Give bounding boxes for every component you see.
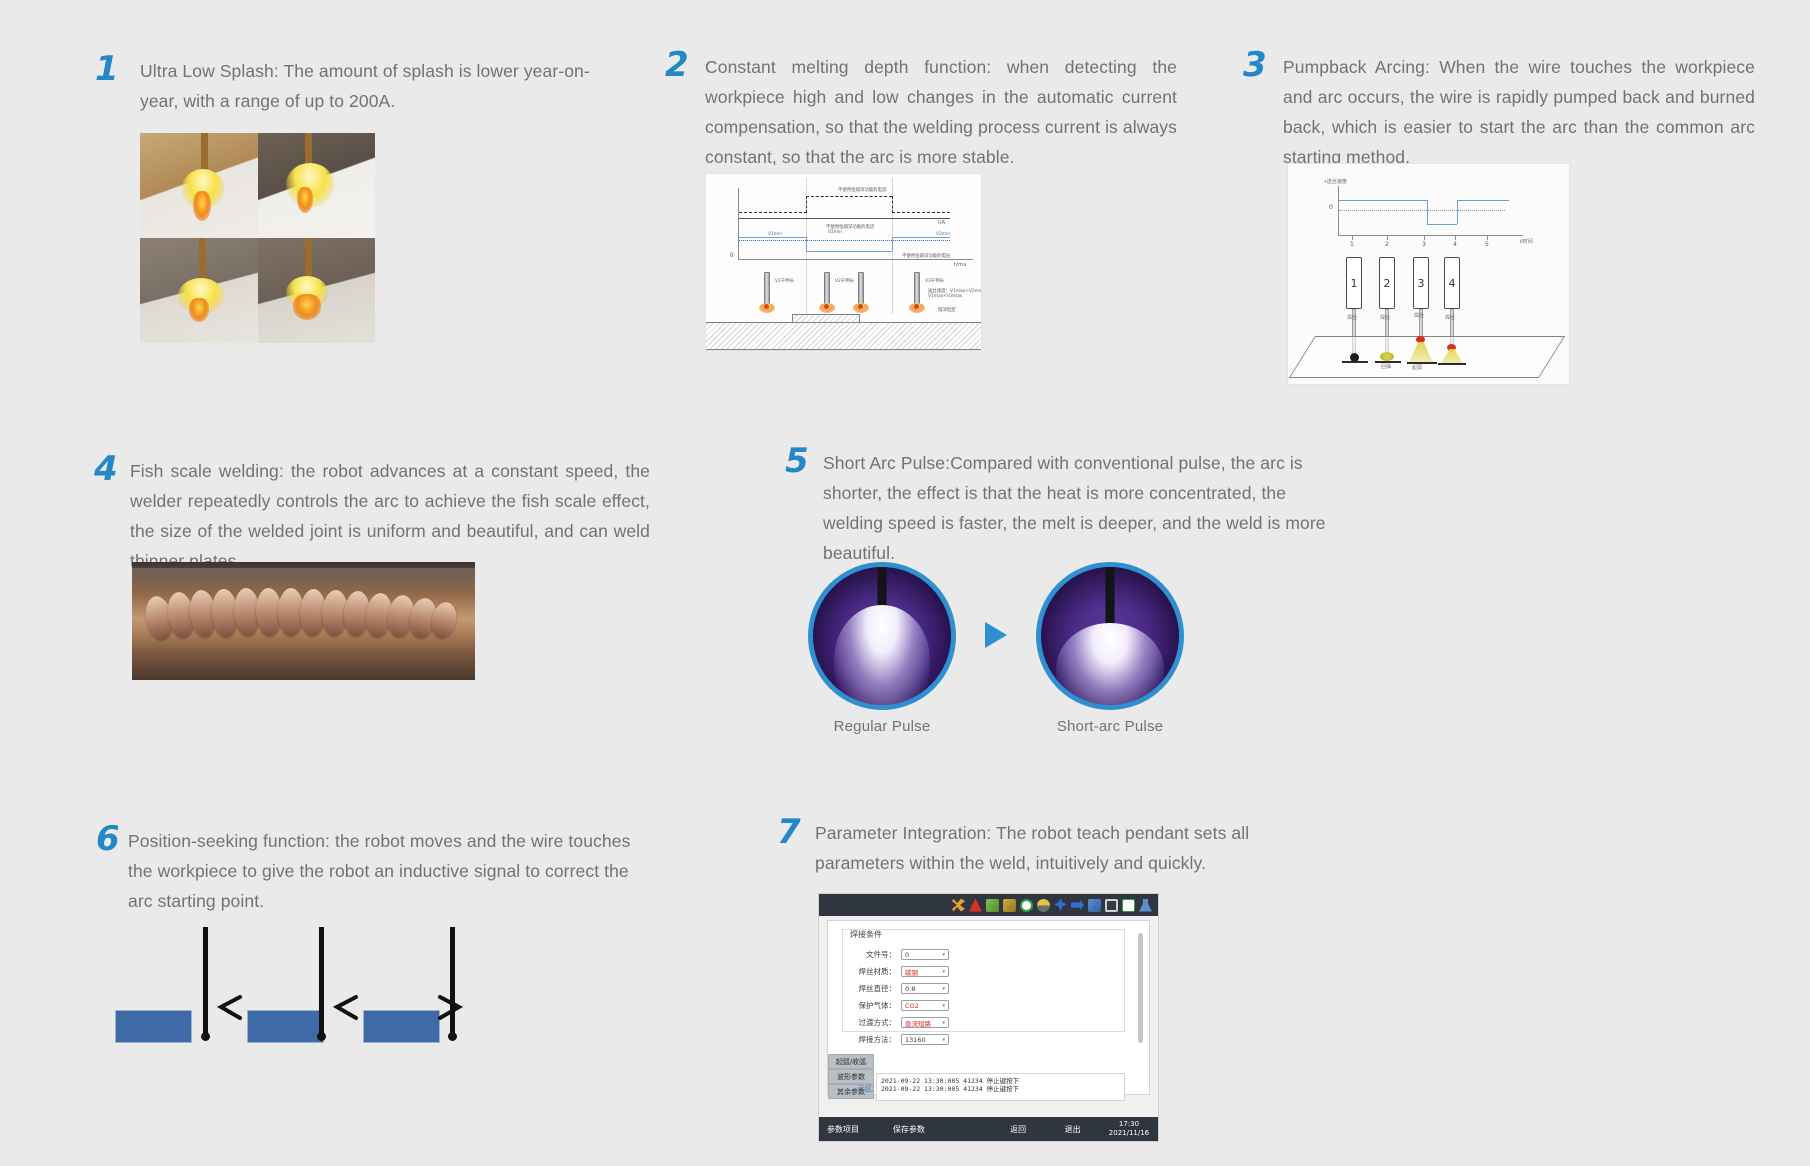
torch-4: [914, 272, 920, 306]
wire-label-3: 焊丝: [1414, 312, 1424, 319]
current-dashed-seg1: [739, 212, 807, 213]
current-dashed-seg3: [892, 212, 950, 213]
chevron-down-icon: ▾: [942, 969, 945, 975]
contact-mark-4: [1438, 363, 1466, 365]
log-row: 2021-09-22 13:30:005 41234 停止键按下: [881, 1077, 1120, 1085]
pendant-toolbar: [819, 894, 1158, 916]
bottom-button-params[interactable]: 参数项目: [819, 1124, 882, 1135]
x-axis-label: t/ms: [954, 262, 966, 268]
stage-box-4: 4: [1444, 257, 1460, 309]
splash-photo-2: [258, 133, 376, 238]
regular-pulse-caption: Regular Pulse: [808, 718, 956, 735]
arc-cone: [293, 294, 321, 320]
feature-3-number: 3: [1243, 48, 1266, 82]
chart-y-axis: [1338, 186, 1339, 236]
voltage-step: [806, 237, 807, 251]
tick-label-2: 2: [1385, 241, 1389, 248]
torch-1: [764, 272, 770, 306]
warning-icon[interactable]: [969, 899, 982, 912]
torch-tip-4: [914, 304, 919, 309]
workpiece-block-1: [115, 1010, 192, 1043]
pumpback-arcing-diagram: +送丝速度 t/时间 0 1 2 3 4 5 1 2 3 4: [1287, 163, 1570, 385]
tick-2: [1387, 235, 1388, 240]
feature-1-number: 1: [95, 52, 118, 86]
regular-pulse-image: [808, 562, 956, 710]
contact-mark-1: [1342, 361, 1368, 363]
feature-6-number: 6: [96, 822, 119, 856]
tick-label-4: 4: [1453, 241, 1457, 248]
field-row-wire-diameter[interactable]: 焊丝直径： 0.8 ▾: [852, 983, 949, 994]
wire-label-4: 焊丝: [1445, 314, 1455, 321]
feature-2-text: Constant melting depth function: when de…: [705, 52, 1177, 172]
field-select[interactable]: 13160 ▾: [901, 1034, 949, 1045]
voltage-step: [892, 237, 893, 251]
feature-7-number: 7: [777, 815, 800, 849]
tab-arc-start-end[interactable]: 起弧/收弧: [828, 1054, 874, 1069]
clock-date: 2021/11/16: [1100, 1129, 1158, 1138]
voltage-seg1: [739, 237, 807, 238]
current-dashed-step: [806, 196, 807, 213]
legend-line-2: V1max<V3max: [928, 294, 962, 299]
voltage-seg2: [806, 251, 892, 252]
left-arrow-icon: [330, 992, 360, 1022]
short-arc-pulse-image: [1036, 562, 1184, 710]
y-axis: [738, 188, 739, 260]
workpiece-block-2: [247, 1010, 324, 1043]
field-label: 过渡方式：: [852, 1017, 896, 1028]
arc-plume: [1056, 623, 1164, 710]
field-select[interactable]: 直流短路 ▾: [901, 1017, 949, 1028]
wire-label-2: 焊丝: [1380, 314, 1390, 321]
field-select[interactable]: CO2 ▾: [901, 1000, 949, 1011]
seek-wire-2: [319, 927, 324, 1037]
ground-label-2: 起弧: [1412, 364, 1422, 371]
field-select[interactable]: 碳钢 ▾: [901, 966, 949, 977]
feature-3-text: Pumpback Arcing: When the wire touches t…: [1283, 52, 1755, 172]
feature-5-number: 5: [785, 444, 808, 478]
chart-x-axis: [1338, 235, 1523, 236]
current-dashed-seg2: [806, 196, 892, 197]
field-value: 0.8: [905, 985, 915, 993]
tick-4: [1455, 235, 1456, 240]
torch-label-3: V3干伸长: [925, 278, 944, 284]
teach-icon[interactable]: [1003, 899, 1016, 912]
feature-6-text: Position-seeking function: the robot mov…: [128, 826, 638, 916]
splash-photo-grid: [140, 133, 375, 343]
tab-waveform-params[interactable]: 波形参数: [828, 1069, 874, 1084]
torch-label-2: V2干伸长: [835, 278, 854, 284]
field-row-transfer-mode[interactable]: 过渡方式： 直流短路 ▾: [852, 1017, 949, 1028]
tick-1: [1352, 235, 1353, 240]
pendant-clock: 17:30 2021/11/16: [1100, 1120, 1158, 1138]
field-label: 保护气体：: [852, 1000, 896, 1011]
log-area: 2021-09-22 13:30:005 41234 停止键按下 2021-09…: [876, 1073, 1125, 1101]
feature-2-number: 2: [665, 48, 688, 82]
chevron-down-icon: ▾: [942, 1037, 945, 1043]
voltage-seg3: [892, 237, 950, 238]
person-icon[interactable]: [1139, 899, 1152, 912]
electrode-rod: [1106, 563, 1115, 625]
chart-x-label: t/时间: [1520, 238, 1533, 245]
feature-1-text: Ultra Low Splash: The amount of splash i…: [140, 56, 590, 116]
torch-3: [858, 272, 864, 306]
wave-fall: [1427, 200, 1428, 224]
bottom-button-exit[interactable]: 退出: [1045, 1124, 1100, 1135]
field-label: 焊丝材质：: [852, 966, 896, 977]
card-title: 焊接条件: [850, 929, 882, 940]
axis-zero-label: 0: [730, 253, 733, 259]
arc-cone: [189, 298, 209, 322]
chevron-down-icon: ▾: [942, 986, 945, 992]
field-row-wire-material[interactable]: 焊丝材质： 碳钢 ▾: [852, 966, 949, 977]
log-row: 2021-09-22 13:30:005 41234 停止键按下: [881, 1085, 1120, 1093]
stage-box-3: 3: [1413, 257, 1429, 309]
field-value: 0: [905, 951, 909, 959]
wave-rise: [1457, 200, 1458, 224]
tools-icon[interactable]: [952, 899, 965, 912]
arc-plume: [834, 605, 930, 710]
wire-tip-red-3: [1416, 336, 1425, 343]
torch-2: [824, 272, 830, 306]
position-seeking-diagram: [110, 920, 500, 1060]
pendant-bottom-bar: 参数项目 保存参数 返回 退出 17:30 2021/11/16: [819, 1117, 1158, 1141]
splash-photo-4: [258, 238, 376, 343]
square-icon[interactable]: [1105, 899, 1118, 912]
field-value: CO2: [905, 1002, 919, 1010]
voltage-reference-line: [739, 240, 950, 241]
field-select[interactable]: 0.8 ▾: [901, 983, 949, 994]
chart-zero-line: [1339, 210, 1505, 211]
arrow-icon[interactable]: [1071, 899, 1084, 912]
wire-tip-3: [448, 1032, 457, 1041]
chevron-down-icon: ▾: [942, 1020, 945, 1026]
field-row-weld-method[interactable]: 焊接方法： 13160 ▾: [852, 1034, 949, 1045]
legend-title: 熔深恒定: [938, 307, 956, 313]
workpiece-block-3: [363, 1010, 440, 1043]
bottom-button-save[interactable]: 保存参数: [882, 1124, 937, 1135]
wire-tip-2: [317, 1032, 326, 1041]
feature-5-text: Short Arc Pulse:Compared with convention…: [823, 448, 1343, 568]
pendant-body: 焊接条件 文件号： 0 ▾ 焊丝材质： 碳钢 ▾ 焊丝直径：: [827, 920, 1150, 1095]
bottom-button-back[interactable]: 返回: [991, 1124, 1046, 1135]
ground-label-1: 回抽: [1381, 363, 1391, 370]
feature-4-text: Fish scale welding: the robot advances a…: [130, 456, 650, 576]
workpiece-plate: [706, 322, 981, 350]
chart-y-label: +送丝速度: [1324, 178, 1347, 185]
tick-label-3: 3: [1422, 241, 1426, 248]
wire-tip-1: [201, 1032, 210, 1041]
field-label: 焊丝直径：: [852, 983, 896, 994]
field-row-shielding-gas[interactable]: 保护气体： CO2 ▾: [852, 1000, 949, 1011]
torch-tip-3: [858, 304, 863, 309]
torch-label-1: V1干伸长: [775, 278, 794, 284]
right-arrow-icon: [436, 992, 466, 1022]
arc-cone: [297, 187, 313, 213]
t-icon[interactable]: [1122, 899, 1135, 912]
circle-icon[interactable]: [1020, 899, 1033, 912]
annotation-top: 不使用恒熔深功能的电流: [838, 187, 886, 193]
weld-icon[interactable]: [1088, 899, 1101, 912]
tick-label-5: 5: [1485, 241, 1489, 248]
tick-3: [1424, 235, 1425, 240]
feature-7-text: Parameter Integration: The robot teach p…: [815, 818, 1315, 878]
vertical-scrollbar[interactable]: [1138, 933, 1143, 1043]
wave-high-1: [1339, 200, 1427, 201]
robot-icon[interactable]: [986, 899, 999, 912]
annotation-mid2: V2min: [828, 230, 842, 235]
current-dashed-step: [892, 196, 893, 213]
teach-pendant-screen: 焊接条件 文件号： 0 ▾ 焊丝材质： 碳钢 ▾ 焊丝直径：: [818, 893, 1159, 1142]
annotation-blue-right: V2min: [936, 232, 950, 237]
arc-cone: [193, 191, 211, 221]
y-axis-label: I/A: [938, 220, 945, 226]
torch-tip-1: [764, 304, 769, 309]
torch-tip-2: [824, 304, 829, 309]
feature-4-number: 4: [94, 452, 117, 486]
current-solid-line: [739, 218, 950, 219]
chevron-down-icon: ▾: [942, 952, 945, 958]
field-select[interactable]: 0 ▾: [901, 949, 949, 960]
field-value: 13160: [905, 1036, 926, 1044]
seek-wire-1: [203, 927, 208, 1037]
fish-scale-weld-photo: [132, 562, 475, 680]
wire-tip-glow-2: [1380, 352, 1394, 361]
wave-high-2: [1457, 200, 1509, 201]
tick-5: [1487, 235, 1488, 240]
short-arc-pulse-caption: Short-arc Pulse: [1036, 718, 1184, 735]
wave-low: [1427, 224, 1457, 225]
infographic-page: 1 Ultra Low Splash: The amount of splash…: [0, 0, 1810, 1166]
field-label: 文件号：: [852, 949, 896, 960]
field-row-file-no[interactable]: 文件号： 0 ▾: [852, 949, 949, 960]
chevron-down-icon: ▾: [942, 1003, 945, 1009]
photo-highlight: [132, 568, 475, 594]
constant-melting-depth-diagram: 0 I/A t/ms 不使用恒熔深功能的电流 不使用恒熔深功能的电流 V2min: [705, 173, 982, 351]
annotation-blue-left: V1min: [768, 232, 782, 237]
clock-time: 17:30: [1100, 1120, 1158, 1129]
field-label: 焊接方法：: [852, 1034, 896, 1045]
shield-icon[interactable]: [1037, 899, 1050, 912]
wire-label-1: 焊丝: [1347, 314, 1357, 321]
tick-label-1: 1: [1350, 241, 1354, 248]
chart-zero-label: 0: [1329, 204, 1333, 211]
annotation-bottom: 不使用恒熔深功能的电压: [902, 253, 950, 259]
field-value: 碳钢: [905, 967, 918, 977]
x-axis: [738, 259, 973, 260]
field-value: 直流短路: [905, 1018, 931, 1028]
stage-box-2: 2: [1379, 257, 1395, 309]
stage-box-1: 1: [1346, 257, 1362, 309]
electrode-rod: [878, 563, 887, 611]
move-icon[interactable]: [1054, 899, 1067, 912]
left-arrow-icon: [214, 992, 244, 1022]
splash-photo-3: [140, 238, 258, 343]
comparison-arrow-icon: [985, 622, 1007, 648]
splash-photo-1: [140, 133, 258, 238]
